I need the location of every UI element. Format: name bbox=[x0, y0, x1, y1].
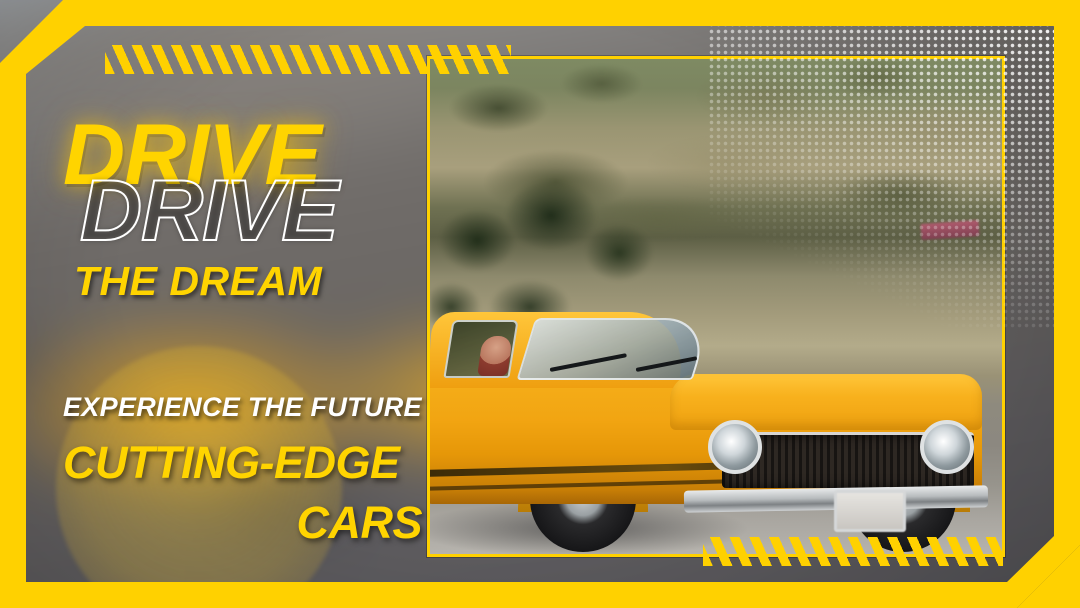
headline-echo-outline: DRIVE bbox=[80, 168, 338, 254]
subhead-block: EXPERIENCE THE FUTURE CUTTING-EDGE CARS bbox=[63, 392, 428, 549]
drive-lockup: DRIVE DRIVE THE DREAM bbox=[63, 112, 423, 262]
subhead-eyebrow: EXPERIENCE THE FUTURE bbox=[63, 392, 428, 423]
photo-car bbox=[427, 248, 1005, 548]
car-windshield bbox=[517, 318, 712, 380]
car-license-plate bbox=[834, 490, 906, 532]
headline-block: DRIVE DRIVE THE DREAM bbox=[63, 112, 423, 262]
hazard-stripes-top bbox=[105, 45, 511, 74]
subhead-main: CUTTING-EDGE bbox=[63, 437, 428, 489]
car-headlight-left bbox=[708, 420, 762, 474]
hazard-stripes-bottom bbox=[703, 537, 1003, 566]
subhead-main-second-line: CARS bbox=[63, 497, 428, 549]
hero-photo bbox=[430, 59, 1002, 554]
car-headlight-right bbox=[920, 420, 974, 474]
headline-secondary: THE DREAM bbox=[74, 258, 322, 305]
poster-canvas: DRIVE DRIVE THE DREAM EXPERIENCE THE FUT… bbox=[0, 0, 1080, 608]
hero-photo-frame bbox=[427, 56, 1005, 557]
